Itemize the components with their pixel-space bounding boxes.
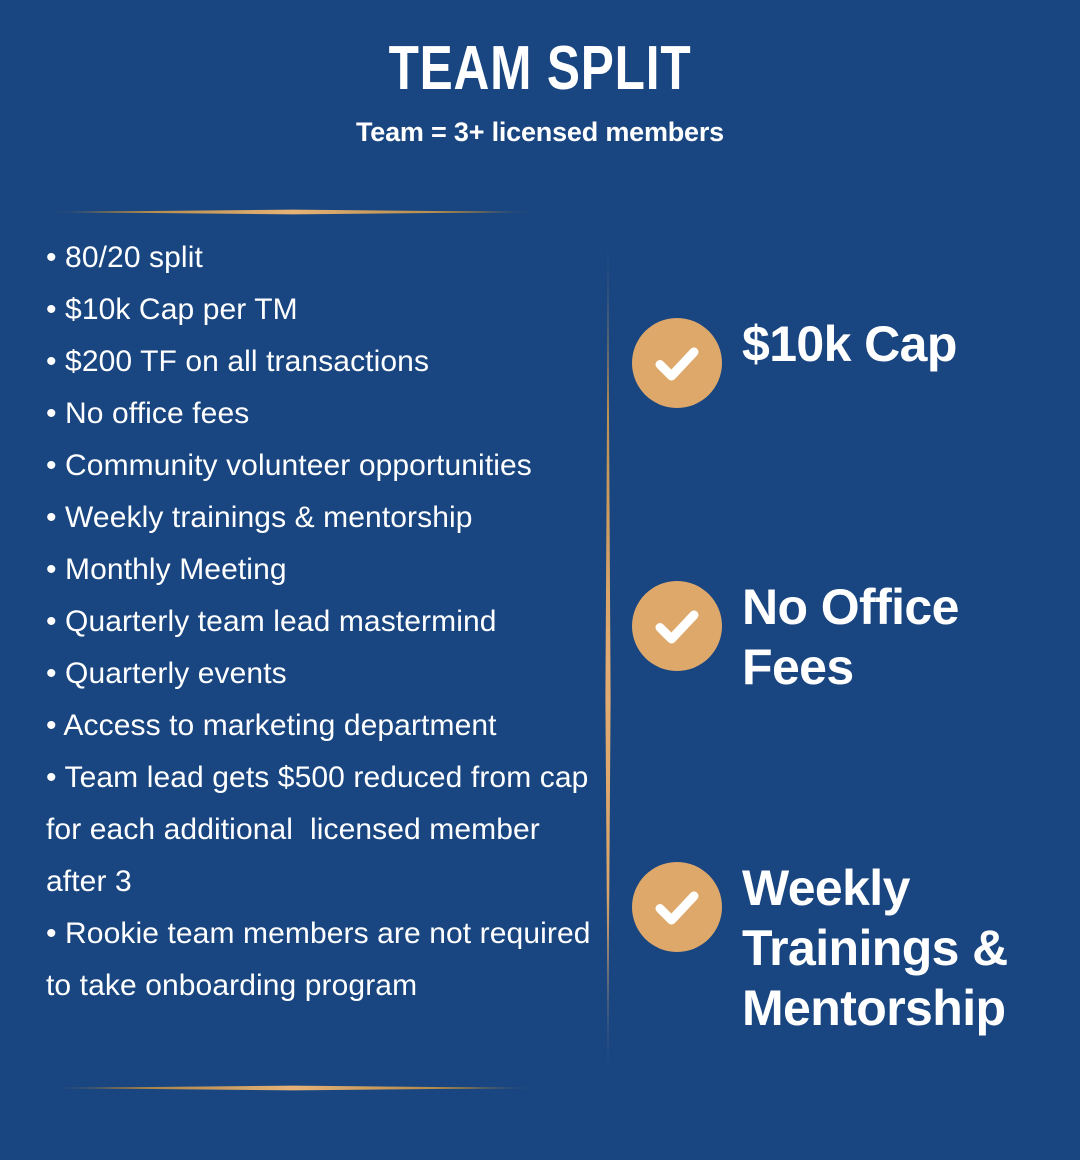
- benefits-bullet-list: • 80/20 split • $10k Cap per TM • $200 T…: [46, 232, 591, 1012]
- list-item: • 80/20 split: [46, 232, 591, 284]
- gold-tapered-rule-icon: [46, 209, 540, 215]
- header: TEAM SPLIT Team = 3+ licensed members: [0, 0, 1080, 148]
- feature-label: $10k Cap: [742, 314, 1042, 374]
- list-item: • Weekly trainings & mentorship: [46, 492, 591, 544]
- feature-item: Weekly Trainings & Mentorship: [632, 858, 1042, 1038]
- check-icon: [649, 879, 705, 935]
- feature-label: No Office Fees: [742, 577, 1042, 697]
- check-circle-icon: [632, 862, 722, 952]
- list-item: • $200 TF on all transactions: [46, 336, 591, 388]
- list-item: • Quarterly team lead mastermind: [46, 596, 591, 648]
- list-item: • $10k Cap per TM: [46, 284, 591, 336]
- divider-top: [46, 202, 540, 208]
- check-icon: [649, 598, 705, 654]
- check-icon: [649, 335, 705, 391]
- list-item: • Access to marketing department: [46, 700, 591, 752]
- list-item: • Quarterly events: [46, 648, 591, 700]
- feature-label: Weekly Trainings & Mentorship: [742, 858, 1042, 1038]
- check-circle-icon: [632, 318, 722, 408]
- page-subtitle: Team = 3+ licensed members: [0, 102, 1080, 148]
- feature-item: No Office Fees: [632, 577, 1042, 697]
- list-item: • No office fees: [46, 388, 591, 440]
- list-item: • Monthly Meeting: [46, 544, 591, 596]
- page-title: TEAM SPLIT: [108, 0, 972, 102]
- content-columns: • 80/20 split • $10k Cap per TM • $200 T…: [0, 232, 1080, 1072]
- check-circle-icon: [632, 581, 722, 671]
- list-item: • Team lead gets $500 reduced from cap f…: [46, 752, 591, 908]
- list-item: • Rookie team members are not required t…: [46, 908, 591, 1012]
- gold-tapered-rule-icon: [46, 1085, 540, 1091]
- list-item: • Community volunteer opportunities: [46, 440, 591, 492]
- feature-item: $10k Cap: [632, 314, 1042, 408]
- divider-bottom: [46, 1078, 540, 1084]
